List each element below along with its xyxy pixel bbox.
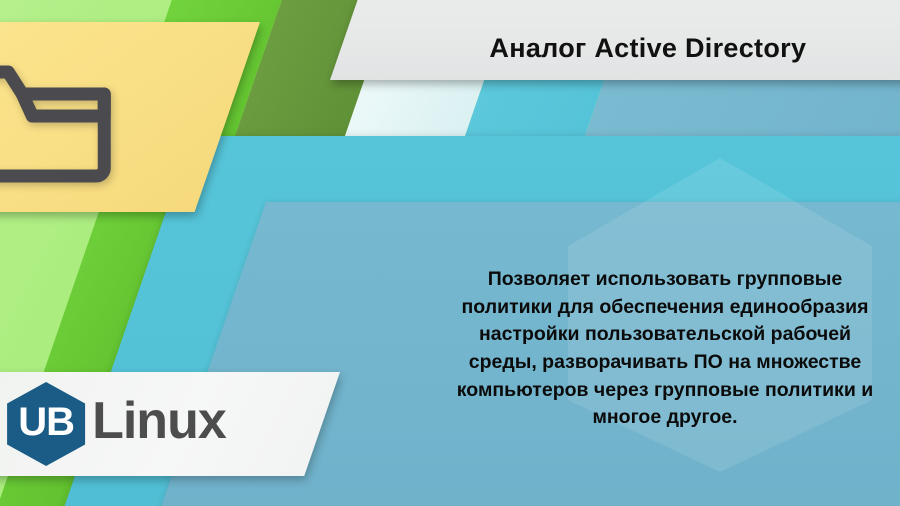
ub-mark-text: UB [2, 380, 90, 468]
folder-icon [0, 50, 116, 190]
body-paragraph: Позволяет использовать групповые политик… [455, 266, 875, 432]
slide-canvas: Аналог Active Directory Позволяет исполь… [0, 0, 900, 506]
logo-lockup: UB Linux [2, 380, 226, 468]
page-title: Аналог Active Directory [341, 33, 900, 64]
logo-wordmark: Linux [92, 395, 226, 453]
title-banner: Аналог Active Directory [330, 0, 900, 80]
ub-hexagon-icon: UB [2, 380, 90, 468]
logo-banner: UB Linux [0, 372, 340, 476]
